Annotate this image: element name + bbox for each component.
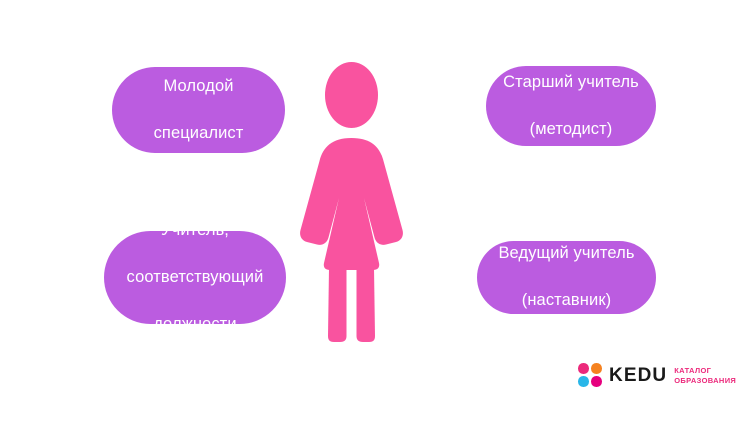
female-figure-svg <box>298 55 458 350</box>
pill-matching-position-line1: Учитель, <box>114 219 276 242</box>
kedu-logo[interactable]: KEDU КАТАЛОГ ОБРАЗОВАНИЯ <box>578 360 730 390</box>
pill-matching-position[interactable]: Учитель,соответствующийдолжности <box>104 231 286 324</box>
logo-dot-orange <box>591 363 602 374</box>
pill-senior-teacher-line2: (методист) <box>496 118 646 141</box>
figure-leg-right <box>357 268 376 342</box>
pill-senior-teacher[interactable]: Старший учитель(методист) <box>486 66 656 146</box>
pill-leading-teacher-line1: Ведущий учитель <box>487 242 646 265</box>
logo-dot-magenta <box>591 376 602 387</box>
kedu-tagline-line2: ОБРАЗОВАНИЯ <box>674 376 736 386</box>
pill-leading-teacher[interactable]: Ведущий учитель(наставник) <box>477 241 656 314</box>
logo-dot-pink <box>578 363 589 374</box>
figure-head <box>325 62 378 128</box>
pill-matching-position-line3: должности <box>114 313 276 336</box>
pill-leading-teacher-line2: (наставник) <box>487 289 646 312</box>
pill-senior-teacher-text: Старший учитель(методист) <box>496 71 646 141</box>
kedu-wordmark: KEDU <box>609 366 667 385</box>
pill-young-specialist-text: Молодойспециалист <box>122 75 275 145</box>
kedu-tagline-line1: КАТАЛОГ <box>674 366 736 376</box>
female-figure-icon <box>298 55 458 350</box>
figure-body <box>300 138 403 270</box>
pill-young-specialist[interactable]: Молодойспециалист <box>112 67 285 153</box>
infographic-canvas: Молодойспециалист Старший учитель(методи… <box>0 0 750 421</box>
logo-dot-cyan <box>578 376 589 387</box>
pill-matching-position-line2: соответствующий <box>114 266 276 289</box>
pill-young-specialist-line2: специалист <box>122 122 275 145</box>
pill-senior-teacher-line1: Старший учитель <box>496 71 646 94</box>
pill-leading-teacher-text: Ведущий учитель(наставник) <box>487 242 646 312</box>
kedu-logo-dots-icon <box>578 363 602 387</box>
kedu-tagline: КАТАЛОГ ОБРАЗОВАНИЯ <box>674 365 736 385</box>
pill-young-specialist-line1: Молодой <box>122 75 275 98</box>
figure-leg-left <box>328 268 347 342</box>
pill-matching-position-text: Учитель,соответствующийдолжности <box>114 219 276 336</box>
